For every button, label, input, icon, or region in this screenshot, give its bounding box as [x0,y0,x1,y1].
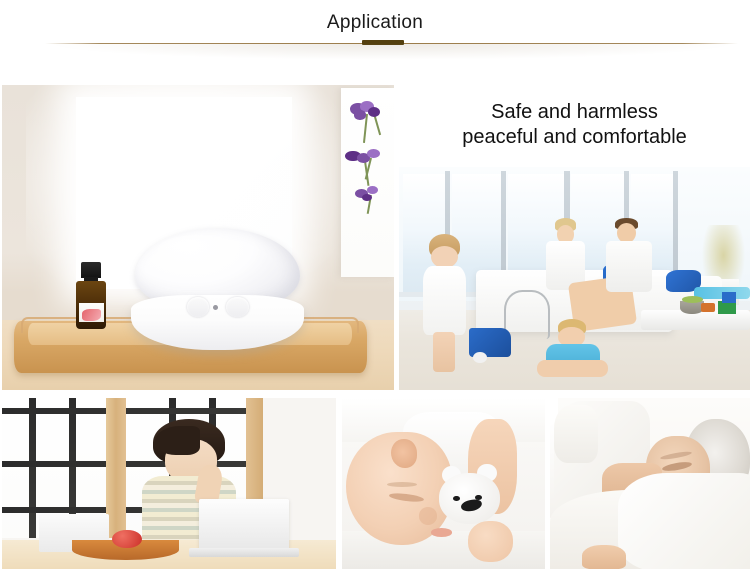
caption-line-1: Safe and harmless [399,100,750,125]
baby-eyebrow [387,482,417,487]
diffuser-light-button[interactable] [226,297,248,318]
senior-arm [554,405,598,463]
baby-nose [419,507,437,524]
baby-ear [391,439,417,468]
diffuser-power-button[interactable] [187,297,209,318]
photo-family-living-room [399,167,750,390]
senior-hand [582,545,626,569]
header-divider-glow [45,44,738,60]
work-laptop-screen [199,499,289,552]
toddler-girl-dress [423,266,466,335]
lavender-sprig-mid [342,149,391,187]
family-toddler-girl [420,234,469,372]
family-green-fruit [682,296,703,303]
oil-bottle-cap [81,262,101,278]
family-toy-block-orange [701,303,715,312]
baby-teddy-bear [439,463,500,528]
photo-woman-working-laptop [2,398,336,569]
baby-mouth [431,528,451,537]
toddler-girl-legs [433,332,456,372]
caption-line-2: peaceful and comfortable [399,125,750,150]
family-toy-block-blue [722,292,736,303]
oil-bottle-label-art [82,309,101,321]
senior-pillow-front [618,473,750,569]
diffuser-base [131,295,303,350]
lavender-print-panel [341,88,394,277]
caption-block: Safe and harmless peaceful and comfortab… [399,100,750,150]
work-window-frame-h1 [2,408,263,413]
diffuser-highlight [158,235,234,263]
page-header: Application [0,0,750,56]
boy-arms [537,360,608,377]
essential-oil-bottle [76,262,105,329]
page-title: Application [0,12,750,34]
lavender-sprig-top [344,101,391,143]
lavender-sprig-bottom [350,186,392,216]
work-laptop-keyboard [189,548,299,557]
photo-product-diffuser [2,85,394,390]
family-father-body [606,241,652,292]
woman-hair-front [155,426,200,455]
oil-bottle-label [79,303,104,322]
family-boy-on-carpet [532,319,616,386]
teddy-bear-snout [460,498,483,513]
aroma-diffuser [131,228,303,350]
teddy-bear-head [439,473,500,524]
teddy-bear-eye-left [453,496,460,502]
baby-hand [468,521,513,562]
oil-bottle-body [76,281,105,329]
family-push-toy-wheel [473,352,487,363]
photo-sleeping-baby [342,398,545,569]
work-window-frame-v1 [29,398,36,538]
photo-sleeping-senior [550,398,750,569]
family-father-head [617,223,636,243]
